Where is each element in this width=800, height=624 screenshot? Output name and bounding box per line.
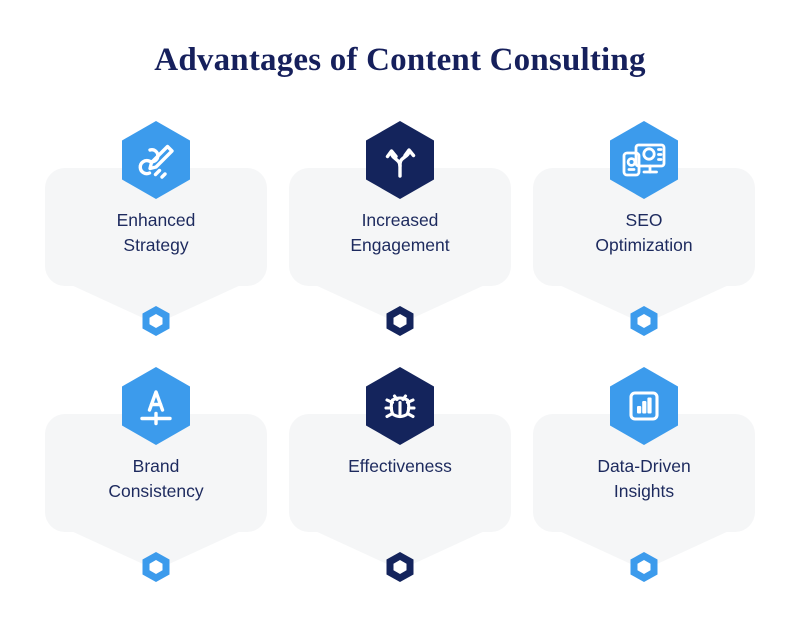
strategy-pencil-icon xyxy=(120,120,192,200)
card-label-line: Engagement xyxy=(295,233,505,258)
card-label-line: Consistency xyxy=(51,479,261,504)
card-label-line: Brand xyxy=(51,454,261,479)
advantage-card[interactable]: Increased Engagement xyxy=(289,120,511,370)
advantage-card[interactable]: Enhanced Strategy xyxy=(45,120,267,370)
typography-letter-a-icon xyxy=(120,366,192,446)
card-label: Brand Consistency xyxy=(51,454,261,504)
card-label: Enhanced Strategy xyxy=(51,208,261,258)
advantage-card[interactable]: Data-Driven Insights xyxy=(533,366,755,616)
card-label-line: Data-Driven xyxy=(539,454,749,479)
bar-chart-icon xyxy=(608,366,680,446)
hexagon-ring-marker xyxy=(629,305,659,337)
advantage-card[interactable]: Effectiveness xyxy=(289,366,511,616)
card-label-line: Increased xyxy=(295,208,505,233)
infographic-root: Advantages of Content Consulting xyxy=(0,0,800,624)
card-label: Effectiveness xyxy=(295,454,505,479)
hexagon-ring-marker xyxy=(141,305,171,337)
card-label: Data-Driven Insights xyxy=(539,454,749,504)
card-label: Increased Engagement xyxy=(295,208,505,258)
card-label-line: Strategy xyxy=(51,233,261,258)
card-label-line: Enhanced xyxy=(51,208,261,233)
advantage-card[interactable]: Brand Consistency xyxy=(45,366,267,616)
hexagon-ring-marker xyxy=(385,305,415,337)
advantages-grid: Enhanced Strategy xyxy=(0,0,800,624)
card-label-line: SEO xyxy=(539,208,749,233)
branching-arrows-icon xyxy=(364,120,436,200)
hexagon-ring-marker xyxy=(629,551,659,583)
devices-monitor-phone-icon xyxy=(608,120,680,200)
bug-icon xyxy=(364,366,436,446)
hexagon-ring-marker xyxy=(385,551,415,583)
card-label-line: Effectiveness xyxy=(295,454,505,479)
card-label-line: Insights xyxy=(539,479,749,504)
card-label: SEO Optimization xyxy=(539,208,749,258)
hexagon-ring-marker xyxy=(141,551,171,583)
advantage-card[interactable]: SEO Optimization xyxy=(533,120,755,370)
card-label-line: Optimization xyxy=(539,233,749,258)
